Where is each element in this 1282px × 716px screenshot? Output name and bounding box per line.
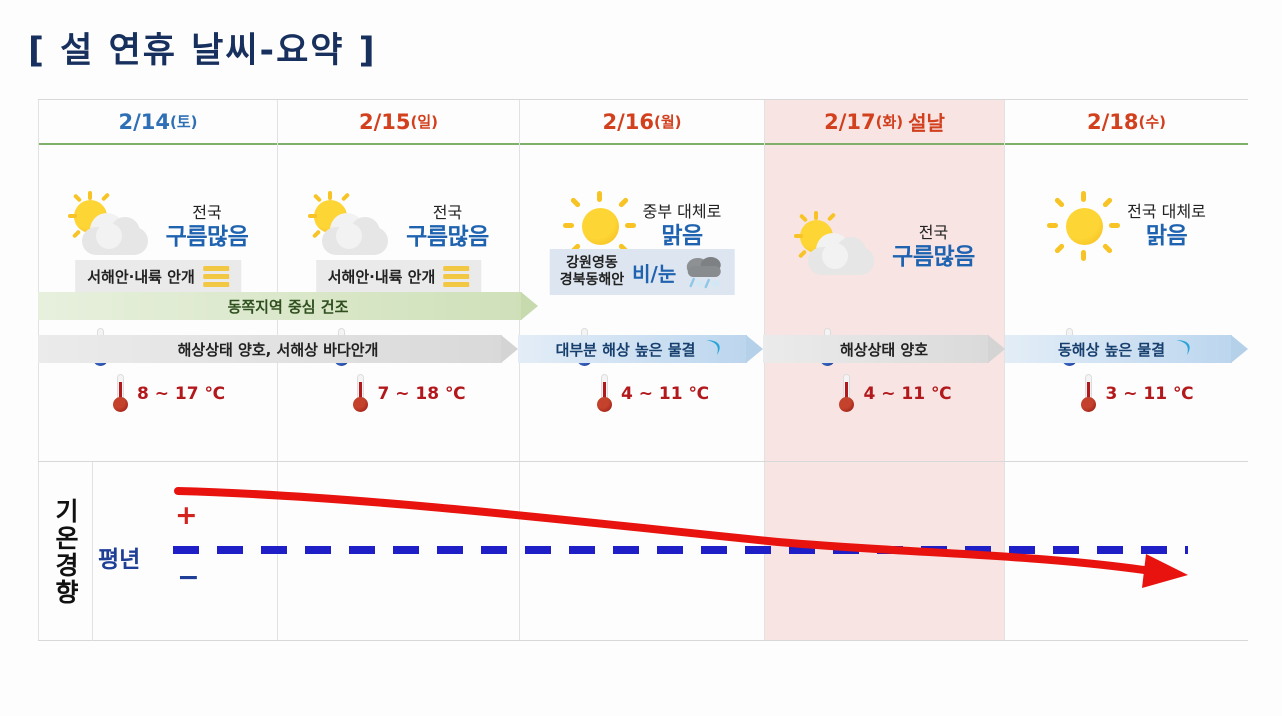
day-badge-1: 서해안·내륙 안개: [75, 260, 241, 293]
day-condition-3: 맑음: [661, 222, 702, 251]
wave-icon: [1173, 337, 1195, 361]
day-header-2: 2/15 (일): [278, 100, 519, 145]
day-header-1: 2/14 (토): [39, 100, 277, 145]
trend-arrowhead: [1142, 554, 1188, 588]
day-region-5: 전국 대체로: [1127, 202, 1206, 222]
day-header-5: 2/18 (수): [1005, 100, 1248, 145]
day-region-3: 중부 대체로: [643, 202, 722, 222]
sea-condition-label-1: 해상상태 양호, 서해상 바다안개: [178, 339, 379, 360]
day-condition-4: 구름많음: [892, 243, 975, 272]
day-temp-max-1: 8 ~ 17 ℃: [137, 384, 225, 404]
day-badge-line1-3: 강원영동: [560, 255, 624, 273]
day-dow-5: (수): [1139, 111, 1167, 132]
day-weather-3: 중부 대체로 맑음 강원영동 경북동해안 비/눈: [520, 145, 764, 460]
day-badge-text-3: 비/눈: [632, 258, 676, 287]
day-weather-4: 전국 구름많음 -4 ~ 6 ℃ 4 ~: [765, 145, 1004, 460]
day-badge-line2-3: 경북동해안: [560, 272, 624, 290]
sea-condition-band-3: 해상상태 양호: [763, 335, 1005, 363]
thermometer-max-icon: [597, 374, 612, 414]
temperature-trend-row: 기온경향 평년 + −: [38, 461, 1248, 641]
day-temp-max-4: 4 ~ 11 ℃: [863, 384, 951, 404]
day-region-2: 전국: [433, 203, 462, 223]
thermometer-max-icon: [839, 374, 854, 414]
rain-snow-cloud-icon: [684, 254, 724, 290]
sun-icon: [1047, 191, 1121, 261]
day-temp-max-3: 4 ~ 11 ℃: [621, 384, 709, 404]
dry-condition-label: 동쪽지역 중심 건조: [228, 296, 349, 317]
thermometer-max-icon: [113, 374, 128, 414]
day-date-1: 2/14: [118, 110, 170, 134]
day-date-2: 2/15: [359, 110, 411, 134]
trend-chart: [38, 462, 1248, 641]
sea-condition-band-2: 대부분 해상 높은 물결: [518, 335, 763, 363]
day-badge-2: 서해안·내륙 안개: [316, 260, 482, 293]
day-date-4: 2/17: [824, 110, 876, 134]
day-region-4: 전국: [919, 223, 948, 243]
day-dow-1: (토): [170, 111, 198, 132]
day-weather-5: 전국 대체로 맑음 -6 ~ 5 ℃ 3: [1005, 145, 1248, 460]
day-badge-3: 강원영동 경북동해안 비/눈: [550, 249, 735, 295]
day-dow-4: (화): [876, 111, 904, 132]
thermometer-max-icon: [353, 374, 368, 414]
day-date-3: 2/16: [602, 110, 654, 134]
day-badge-text-2: 서해안·내륙 안개: [328, 266, 436, 287]
sea-condition-label-2: 대부분 해상 높은 물결: [556, 339, 696, 360]
day-holiday-label-4: 설날: [908, 107, 945, 136]
partly-cloudy-icon: [308, 191, 400, 263]
day-date-5: 2/18: [1087, 110, 1139, 134]
sea-condition-band-4: 동해상 높은 물결: [1005, 335, 1248, 363]
day-dow-2: (일): [411, 111, 439, 132]
day-condition-2: 구름많음: [406, 223, 489, 252]
thermometer-max-icon: [1081, 374, 1096, 414]
day-condition-1: 구름많음: [166, 223, 249, 252]
page-title: [ 설 연휴 날씨-요약 ]: [28, 22, 377, 73]
sea-condition-label-3: 해상상태 양호: [840, 339, 928, 360]
fog-icon: [203, 266, 229, 287]
wave-icon: [703, 337, 725, 361]
day-header-3: 2/16 (월): [520, 100, 764, 145]
partly-cloudy-icon: [68, 191, 160, 263]
day-temp-max-2: 7 ~ 18 ℃: [377, 384, 465, 404]
partly-cloudy-icon: [794, 211, 886, 283]
forecast-table: 2/14 (토): [38, 99, 1248, 641]
sea-condition-band-1: 해상상태 양호, 서해상 바다안개: [38, 335, 518, 363]
day-header-4: 2/17 (화) 설날: [765, 100, 1004, 145]
dry-condition-band: 동쪽지역 중심 건조: [38, 292, 538, 320]
trend-line: [178, 491, 1158, 572]
day-temp-max-5: 3 ~ 11 ℃: [1105, 384, 1193, 404]
day-dow-3: (월): [654, 111, 682, 132]
day-condition-5: 맑음: [1146, 222, 1187, 251]
fog-icon: [443, 266, 469, 287]
day-badge-text-1: 서해안·내륙 안개: [87, 266, 195, 287]
day-region-1: 전국: [192, 203, 221, 223]
sea-condition-label-4: 동해상 높은 물결: [1058, 339, 1165, 360]
